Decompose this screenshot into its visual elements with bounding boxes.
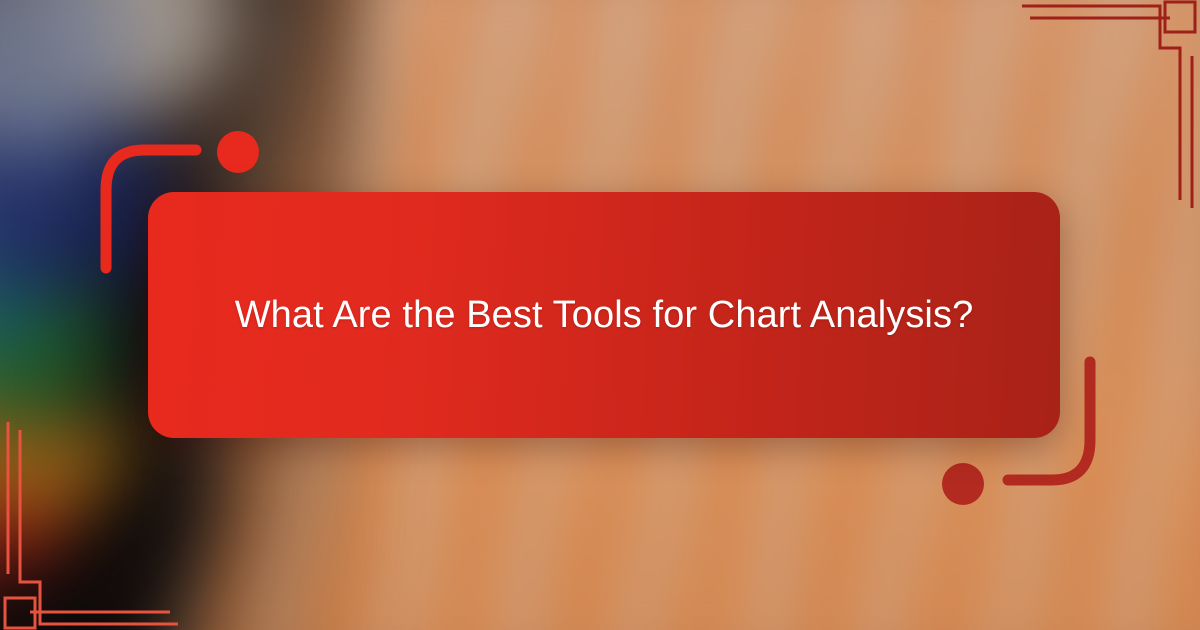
title-card: What Are the Best Tools for Chart Analys… <box>148 192 1060 438</box>
promo-banner: What Are the Best Tools for Chart Analys… <box>0 0 1200 630</box>
accent-dot-top-left <box>217 131 259 173</box>
page-title: What Are the Best Tools for Chart Analys… <box>235 289 974 341</box>
accent-dot-bottom-right <box>942 463 984 505</box>
